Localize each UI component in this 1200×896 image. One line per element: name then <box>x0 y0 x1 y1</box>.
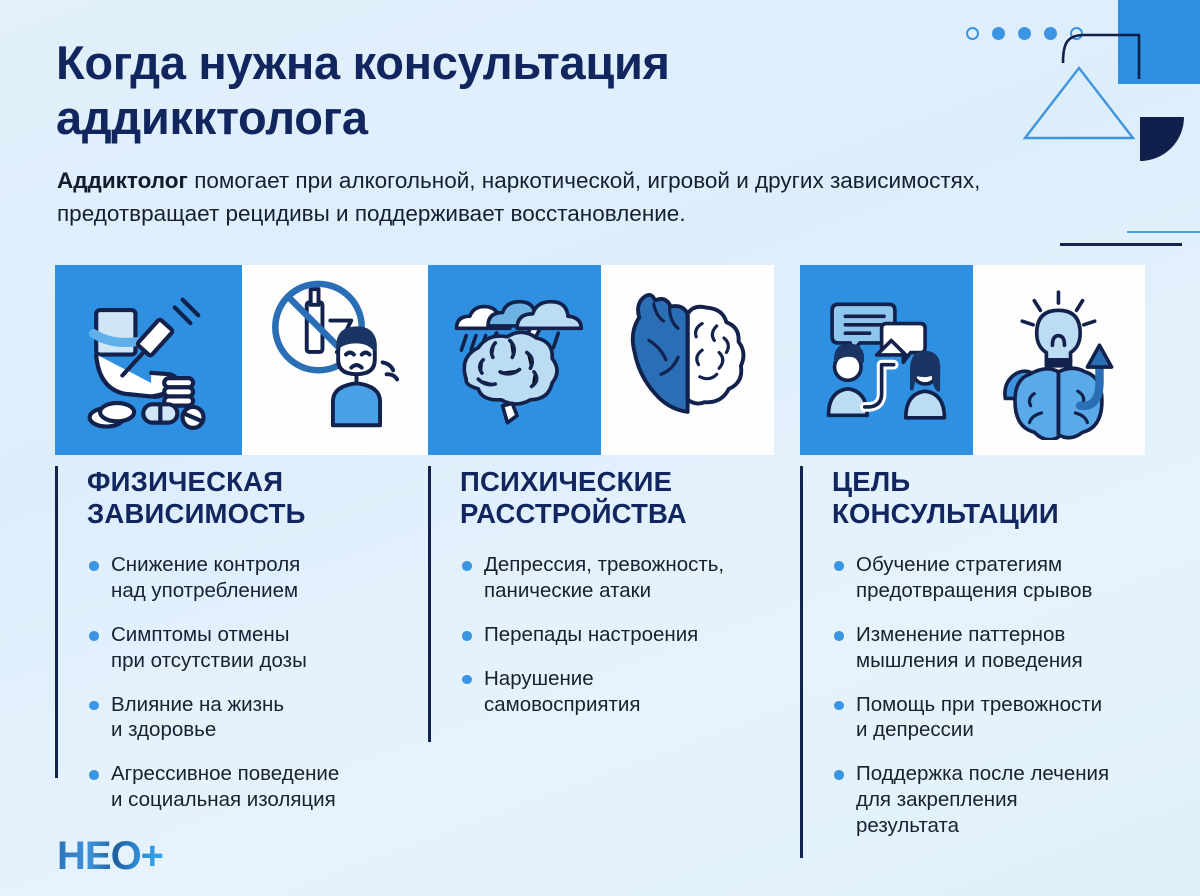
list-item: Помощь при тревожности и депрессии <box>832 692 1109 744</box>
image-strip-mental <box>428 265 774 455</box>
list-item: Влияние на жизнь и здоровье <box>87 692 339 744</box>
arm-injection-pills-icon <box>70 280 227 440</box>
list-item: Агрессивное поведение и социальная изоля… <box>87 761 339 813</box>
dot-filled-icon <box>1044 27 1057 40</box>
column-divider <box>55 466 58 778</box>
subtitle-bold-lead: Аддиктолог <box>57 168 188 193</box>
heart-brain-split-icon <box>615 280 760 440</box>
list-item: Обучение стратегиям предотвращения срыво… <box>832 552 1109 604</box>
list-item: Депрессия, тревожность, панические атаки <box>460 552 724 604</box>
dot-filled-icon <box>1018 27 1031 40</box>
list-item: Симптомы отмены при отсутствии дозы <box>87 622 339 674</box>
brain-lightbulb-arrow-icon <box>986 280 1131 440</box>
people-dialogue-arrow-icon <box>814 280 959 440</box>
image-cell-blue <box>428 265 601 455</box>
column-heading: ПСИХИЧЕСКИЕ РАССТРОЙСТВА <box>460 466 724 530</box>
list-item: Снижение контроля над употреблением <box>87 552 339 604</box>
column-list: Снижение контроля над употреблением Симп… <box>87 552 339 813</box>
page-title: Когда нужна консультация аддикктолога <box>56 36 896 146</box>
list-item: Изменение паттернов мышления и поведения <box>832 622 1109 674</box>
page-subtitle: Аддиктолог помогает при алкогольной, нар… <box>57 165 1117 230</box>
dark-navy-rule <box>1060 243 1182 246</box>
image-cell-white <box>973 265 1146 455</box>
list-item: Поддержка после лечения для закрепления … <box>832 761 1109 838</box>
no-alcohol-sad-man-icon <box>257 280 414 440</box>
image-strip-goal <box>800 265 1145 455</box>
brand-logo: НЕО+ <box>57 836 163 876</box>
column-list: Депрессия, тревожность, панические атаки… <box>460 552 724 717</box>
infographic-poster: Когда нужна консультация аддикктолога Ад… <box>0 0 1200 896</box>
image-cell-blue <box>55 265 242 455</box>
storm-cloud-brain-icon <box>442 280 587 440</box>
dot-filled-icon <box>992 27 1005 40</box>
list-item: Перепады настроения <box>460 622 724 648</box>
column-heading: ФИЗИЧЕСКАЯ ЗАВИСИМОСТЬ <box>87 466 339 530</box>
image-cell-blue <box>800 265 973 455</box>
image-strip-physical <box>55 265 429 455</box>
list-item: Нарушение самовосприятия <box>460 666 724 718</box>
column-heading: ЦЕЛЬ КОНСУЛЬТАЦИИ <box>832 466 1109 530</box>
image-cell-white <box>601 265 774 455</box>
subtitle-rest: помогает при алкогольной, наркотической,… <box>57 168 980 226</box>
column-list: Обучение стратегиям предотвращения срыво… <box>832 552 1109 838</box>
image-cell-white <box>242 265 429 455</box>
light-blue-rule <box>1127 231 1200 233</box>
column-divider <box>428 466 431 742</box>
dot-ring-icon <box>966 27 979 40</box>
column-divider <box>800 466 803 858</box>
